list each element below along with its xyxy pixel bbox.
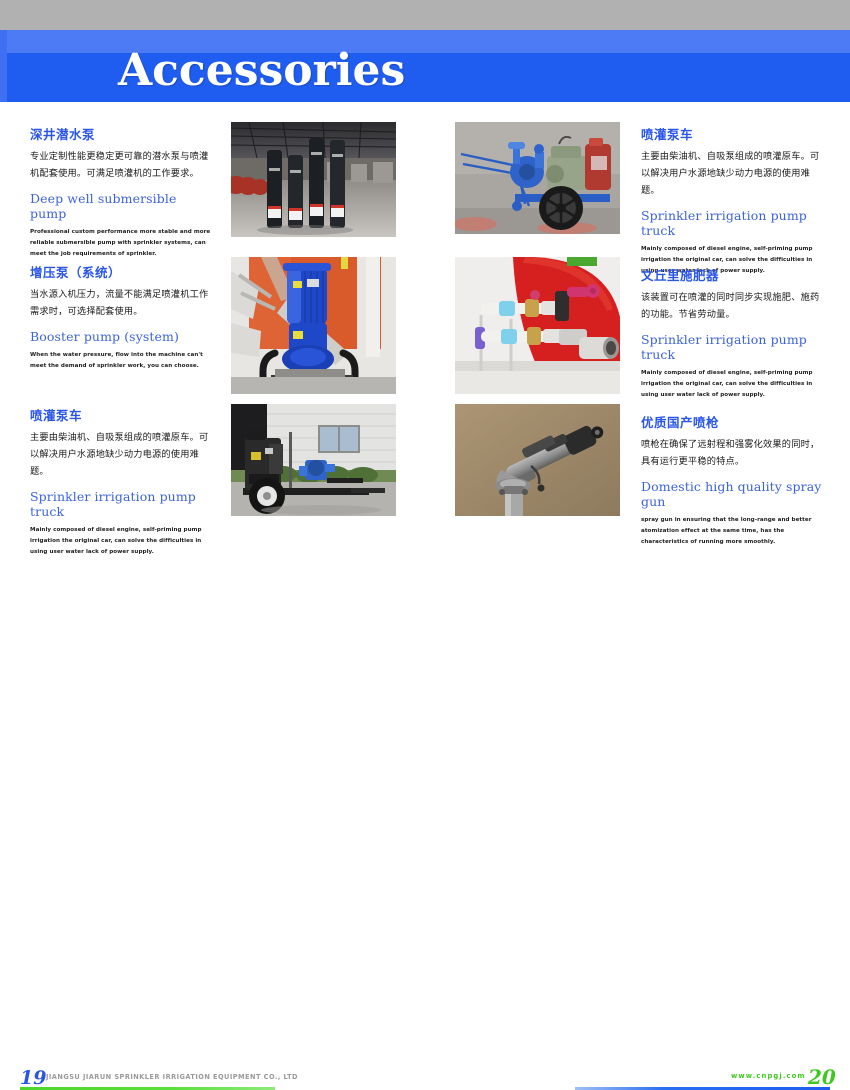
zh-title: 文丘里施肥器 bbox=[641, 265, 824, 284]
website-url[interactable]: www.cnpgj.com bbox=[731, 1072, 806, 1080]
en-title: Sprinkler irrigation pump truck bbox=[641, 208, 824, 238]
page-title: Accessories bbox=[118, 49, 405, 93]
page-header: Accessories bbox=[0, 0, 850, 102]
zh-description: 专业定制性能更稳定更可靠的潜水泵与喷灌机配套使用。可满足喷灌机的工作要求。 bbox=[30, 148, 213, 182]
zh-description: 主要由柴油机、自吸泵组成的喷灌原车。可以解决用户水源地缺少动力电源的使用难题。 bbox=[641, 148, 824, 199]
product-entry-submersible-pump: 深井潜水泵 专业定制性能更稳定更可靠的潜水泵与喷灌机配套使用。可满足喷灌机的工作… bbox=[30, 124, 213, 260]
spray-gun-photo bbox=[455, 404, 620, 516]
page-number-left: 19 bbox=[20, 1067, 46, 1089]
zh-description: 该装置可在喷灌的同时同步实现施肥、施药的功能。节省劳动量。 bbox=[641, 289, 824, 323]
submersible-pumps-photo bbox=[231, 122, 396, 237]
content-sheet: 深井潜水泵 专业定制性能更稳定更可靠的潜水泵与喷灌机配套使用。可满足喷灌机的工作… bbox=[0, 102, 850, 527]
pump-cart-photo bbox=[455, 122, 620, 234]
header-grey-band bbox=[0, 0, 850, 30]
zh-title: 深井潜水泵 bbox=[30, 124, 213, 143]
zh-description: 主要由柴油机、自吸泵组成的喷灌原车。可以解决用户水源地缺少动力电源的使用难题。 bbox=[30, 429, 213, 480]
zh-title: 优质国产喷枪 bbox=[641, 412, 824, 431]
en-description: Professional custom performance more sta… bbox=[30, 227, 213, 260]
header-left-edge-accent bbox=[0, 30, 7, 102]
booster-pump-photo bbox=[231, 257, 396, 394]
zh-title: 喷灌泵车 bbox=[641, 124, 824, 143]
en-title: Booster pump (system) bbox=[30, 329, 213, 344]
page-number-right: 20 bbox=[808, 1065, 836, 1089]
en-title: Sprinkler irrigation pump truck bbox=[30, 489, 213, 519]
company-name: JIANGSU JIARUN SPRINKLER IRRIGATION EQUI… bbox=[46, 1073, 298, 1081]
venturi-fertilizer-photo bbox=[455, 257, 620, 394]
zh-description: 当水源入机压力，流量不能满足喷灌机工作需求时，可选择配套使用。 bbox=[30, 286, 213, 320]
product-entry-venturi-fertilizer: 文丘里施肥器 该装置可在喷灌的同时同步实现施肥、施药的功能。节省劳动量。 Spr… bbox=[641, 265, 824, 401]
en-title: Deep well submersible pump bbox=[30, 191, 213, 221]
zh-title: 喷灌泵车 bbox=[30, 405, 213, 424]
product-entry-pump-cart: 喷灌泵车 主要由柴油机、自吸泵组成的喷灌原车。可以解决用户水源地缺少动力电源的使… bbox=[641, 124, 824, 277]
zh-description: 喷枪在确保了远射程和强雾化效果的同时，具有运行更平稳的特点。 bbox=[641, 436, 824, 470]
zh-title: 增压泵（系统） bbox=[30, 262, 213, 281]
pump-truck-trailer-photo bbox=[231, 404, 396, 516]
en-title: Domestic high quality spray gun bbox=[641, 479, 824, 509]
en-description: Mainly composed of diesel engine, self-p… bbox=[641, 368, 824, 401]
page-footer: 19 JIANGSU JIARUN SPRINKLER IRRIGATION E… bbox=[0, 527, 850, 580]
en-title: Sprinkler irrigation pump truck bbox=[641, 332, 824, 362]
en-description: When the water pressure, flow into the m… bbox=[30, 350, 213, 372]
product-entry-booster-pump: 增压泵（系统） 当水源入机压力，流量不能满足喷灌机工作需求时，可选择配套使用。 … bbox=[30, 262, 213, 372]
